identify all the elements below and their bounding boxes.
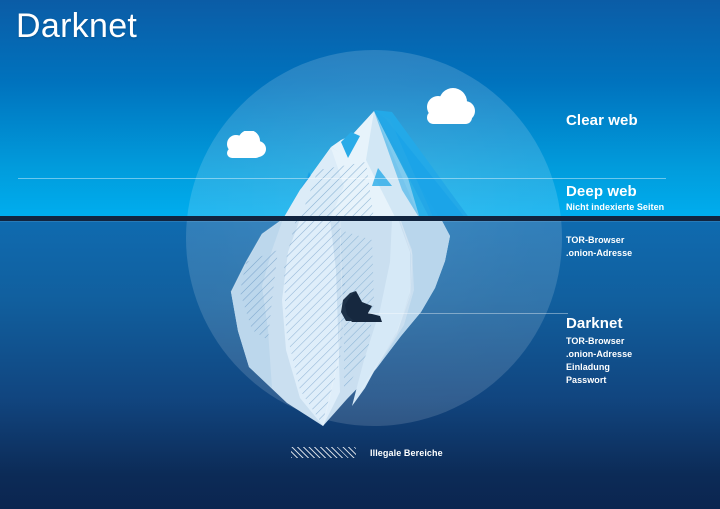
label-darknet: Darknet TOR-Browser .onion-Adresse Einla…: [566, 315, 632, 387]
label-deep-web: Deep web Nicht indexierte Seiten: [566, 183, 664, 214]
darknet-item-2: .onion-Adresse: [566, 348, 632, 361]
deep-web-item-1: TOR-Browser: [566, 234, 632, 247]
legend-label: Illegale Bereiche: [370, 448, 443, 458]
page-title: Darknet: [16, 7, 137, 46]
darknet-pointer-line: [368, 313, 568, 314]
deep-web-item-2: .onion-Adresse: [566, 247, 632, 260]
clear-web-heading: Clear web: [566, 112, 638, 130]
deep-web-subtitle: Nicht indexierte Seiten: [566, 201, 664, 214]
iceberg-submerged: [231, 219, 450, 426]
waterline-divider: [0, 216, 720, 221]
darknet-item-1: TOR-Browser: [566, 335, 632, 348]
diagonal-hatch-swatch: [291, 447, 356, 458]
deep-web-heading: Deep web: [566, 183, 664, 201]
deep-web-pointer-line: [18, 178, 666, 179]
darknet-item-3: Einladung: [566, 361, 632, 374]
label-clear-web: Clear web: [566, 112, 638, 130]
darknet-item-4: Passwort: [566, 374, 632, 387]
label-deep-web-requirements: TOR-Browser .onion-Adresse: [566, 234, 632, 260]
iceberg-tip: [283, 110, 470, 219]
darknet-heading: Darknet: [566, 315, 632, 333]
legend: Illegale Bereiche: [291, 447, 443, 458]
infographic-canvas: Darknet Clear web Deep web Nicht indexie…: [0, 0, 720, 509]
